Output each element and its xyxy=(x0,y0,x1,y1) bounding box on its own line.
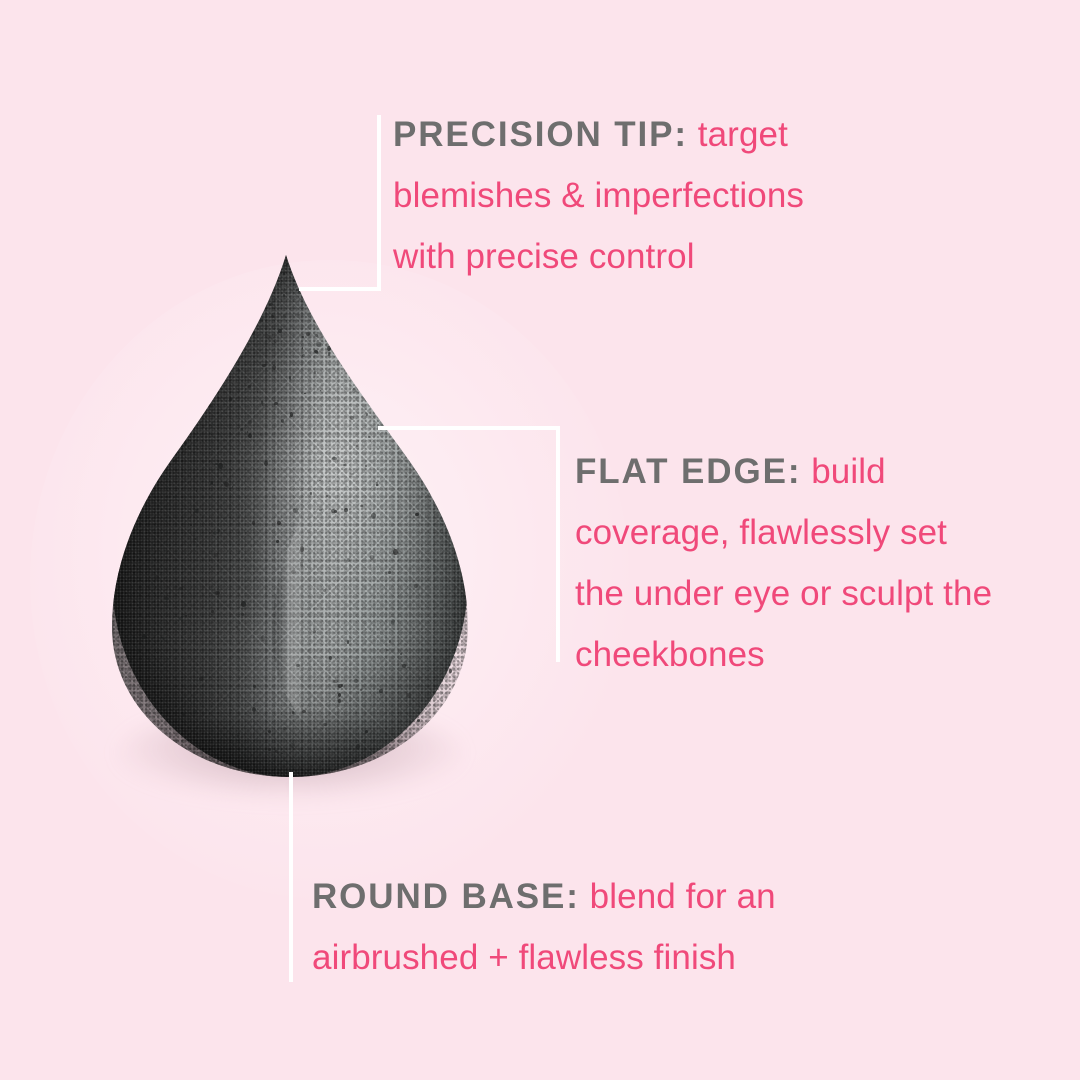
sponge-edge-falloff xyxy=(112,255,468,777)
leader-line-precision-vertical xyxy=(377,115,381,291)
infographic-canvas: PRECISION TIP: target blemishes & imperf… xyxy=(0,0,1080,1080)
callout-label-precision-tip: PRECISION TIP: xyxy=(393,115,688,154)
callout-label-flat-edge: FLAT EDGE: xyxy=(575,452,801,491)
leader-line-flatedge-horizontal xyxy=(378,426,560,430)
leader-line-roundbase-vertical xyxy=(289,772,293,982)
product-image-sponge xyxy=(112,255,468,777)
callout-precision-tip: PRECISION TIP: target blemishes & imperf… xyxy=(393,104,873,287)
leader-line-precision-horizontal xyxy=(299,287,381,291)
callout-label-round-base: ROUND BASE: xyxy=(312,877,580,916)
callout-round-base: ROUND BASE: blend for an airbrushed + fl… xyxy=(312,866,842,988)
callout-flat-edge: FLAT EDGE: build coverage, flawlessly se… xyxy=(575,441,995,685)
leader-line-flatedge-vertical xyxy=(556,426,560,662)
